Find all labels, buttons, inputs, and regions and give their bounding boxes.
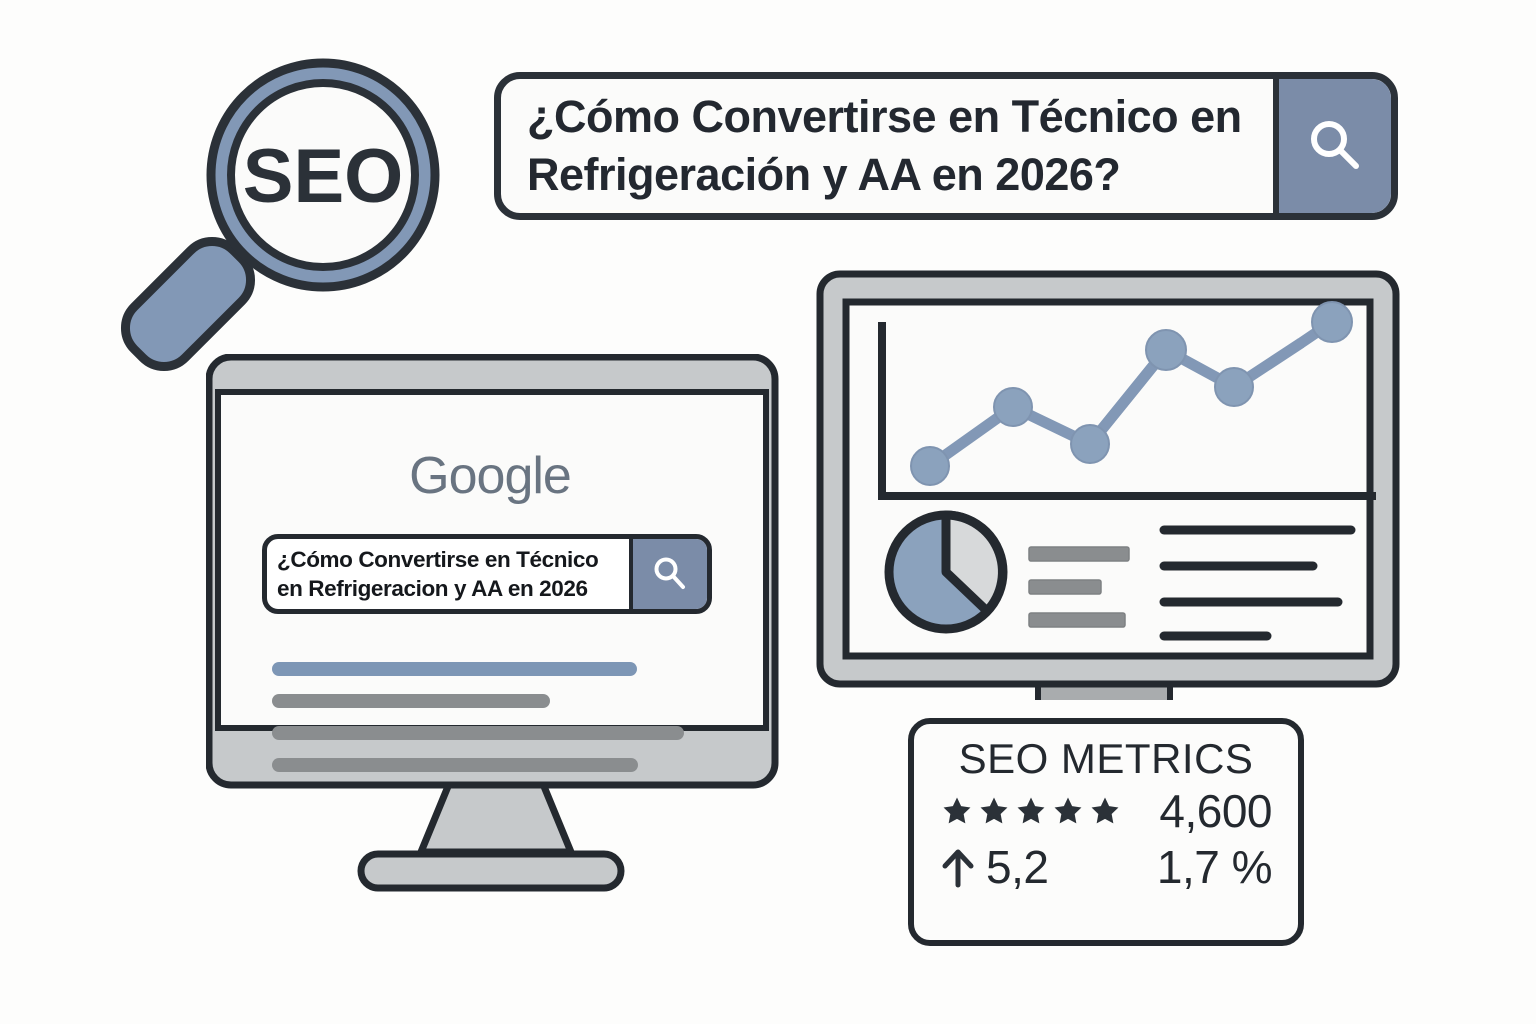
analytics-monitor-chassis [816, 270, 1400, 700]
data-point [994, 388, 1032, 426]
pie-chart [889, 515, 1003, 629]
magnifying-glass-icon: SEO [108, 40, 488, 390]
trend-group: 5,2 [940, 844, 1048, 890]
result-bar-snippet-3 [272, 758, 638, 772]
main-search-bar[interactable]: ¿Cómo Convertirse en Técnico en Refriger… [494, 72, 1398, 220]
star-icon [1014, 794, 1048, 828]
main-search-line-1: ¿Cómo Convertirse en Técnico en [527, 91, 1242, 142]
data-point [911, 447, 949, 485]
metrics-row-rating: 4,600 [940, 788, 1272, 834]
google-search-line-1: ¿Cómo Convertirse en Técnico [277, 547, 598, 572]
ctr-percent-value: 1,7 % [1157, 844, 1272, 890]
search-icon [650, 554, 690, 594]
search-icon [1304, 115, 1366, 177]
star-icon [940, 794, 974, 828]
main-search-button[interactable] [1273, 79, 1391, 213]
seo-metrics-card: SEO METRICS 4,600 5,2 1,7 % [908, 718, 1304, 946]
desktop-monitor-analytics [816, 270, 1400, 700]
data-point [1071, 425, 1109, 463]
data-point [1312, 302, 1352, 342]
star-icon [977, 794, 1011, 828]
google-wordmark: Google [230, 446, 750, 506]
google-screen-content: Google ¿Cómo Convertirse en Técnico en R… [230, 402, 750, 742]
main-search-input[interactable]: ¿Cómo Convertirse en Técnico en Refriger… [501, 79, 1273, 213]
metrics-title: SEO METRICS [940, 736, 1272, 782]
legend-bar [1029, 613, 1125, 627]
result-bar-title [272, 662, 637, 676]
star-icon [1088, 794, 1122, 828]
seo-magnifier-badge: SEO [108, 40, 488, 390]
google-search-box[interactable]: ¿Cómo Convertirse en Técnico en Refriger… [262, 534, 712, 614]
result-bar-snippet-1 [272, 694, 550, 708]
trend-value: 5,2 [986, 844, 1048, 890]
google-search-input[interactable]: ¿Cómo Convertirse en Técnico en Refriger… [267, 539, 629, 609]
metrics-row-trend: 5,2 1,7 % [940, 844, 1272, 890]
legend-bar [1029, 547, 1129, 561]
star-rating [940, 794, 1122, 828]
result-bar-snippet-2 [272, 726, 684, 740]
search-volume-value: 4,600 [1159, 788, 1272, 834]
illustration-canvas: SEO ¿Cómo Convertirse en Técnico en Refr… [0, 0, 1536, 1024]
seo-label: SEO [243, 134, 404, 219]
main-search-line-2: Refrigeración y AA en 2026? [527, 149, 1120, 200]
desktop-monitor-google: Google ¿Cómo Convertirse en Técnico en R… [206, 354, 786, 894]
data-point [1146, 330, 1186, 370]
star-icon [1051, 794, 1085, 828]
google-search-line-2: en Refrigeracion y AA en 2026 [277, 576, 588, 601]
arrow-up-icon [940, 845, 976, 889]
data-point [1215, 368, 1253, 406]
legend-bar [1029, 580, 1101, 594]
google-search-button[interactable] [629, 539, 707, 609]
